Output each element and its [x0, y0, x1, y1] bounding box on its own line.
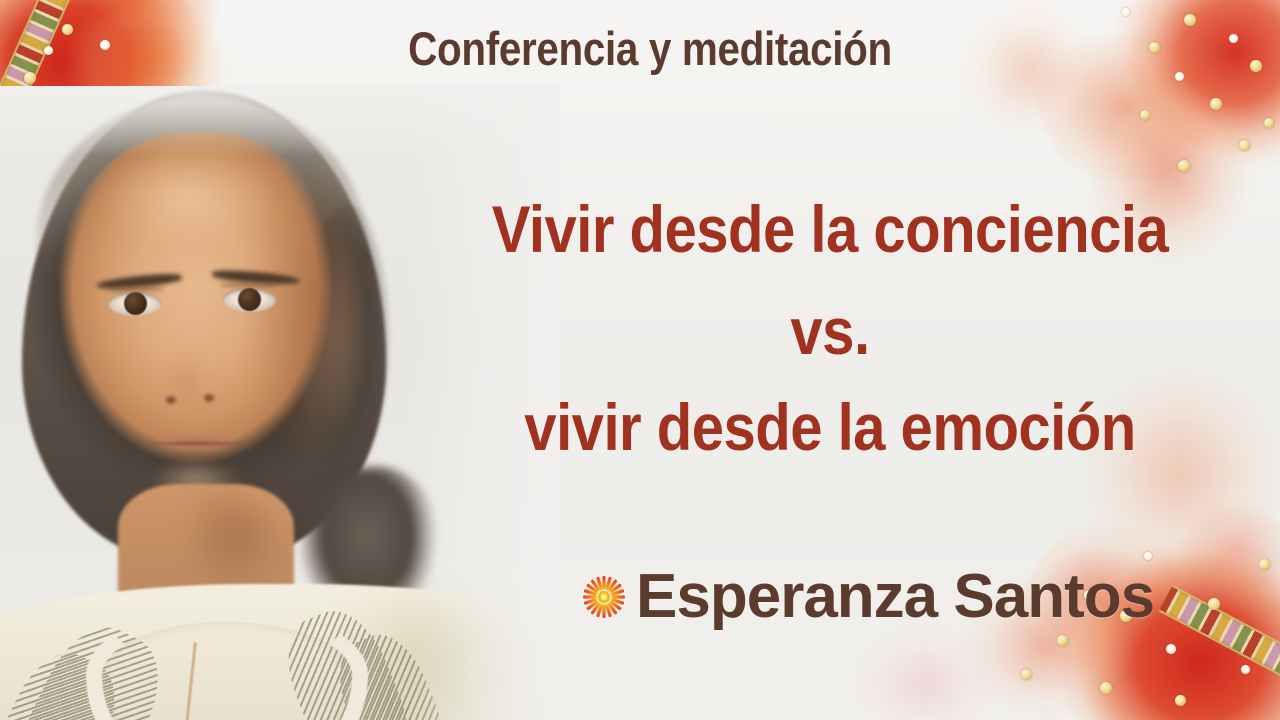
gold-dot-icon [1210, 98, 1222, 110]
white-dot-icon [1241, 665, 1250, 674]
white-dot-icon [1175, 72, 1184, 81]
gold-dot-icon [1140, 110, 1150, 120]
gold-dot-icon [24, 72, 36, 84]
headline-line-3: vivir desde la emoción [443, 394, 1217, 460]
headline-line-1: Vivir desde la conciencia [443, 196, 1217, 262]
portrait-iris-right [238, 288, 261, 311]
gold-dot-icon [1264, 118, 1274, 128]
speaker-credit: Esperanza Santos [580, 566, 1154, 628]
white-dot-icon [44, 46, 53, 55]
gold-dot-icon [1100, 682, 1112, 694]
presentation-slide: Conferencia y meditación Vivir desde la … [0, 0, 1280, 720]
gold-dot-icon [62, 24, 73, 35]
portrait-forehead-highlight [98, 150, 298, 270]
watercolor-splash-top-right-icon [1030, 0, 1280, 220]
portrait-lip-line [150, 442, 242, 445]
portrait-top-edge-fade [0, 86, 560, 156]
portrait-iris-left [124, 292, 147, 315]
gold-dot-icon [1021, 669, 1032, 680]
gold-dot-icon [1208, 598, 1220, 610]
sunburst-icon [580, 573, 628, 621]
gold-dot-icon [1057, 635, 1068, 646]
gold-dot-icon [1175, 695, 1186, 706]
portrait-nostril-right [204, 394, 214, 402]
white-dot-icon [1122, 8, 1130, 16]
speaker-name-label: Esperanza Santos [636, 566, 1154, 628]
portrait-nostril-left [166, 396, 176, 404]
headline-line-2: vs. [443, 298, 1217, 364]
gold-dot-icon [1149, 42, 1160, 53]
portrait-eyelid-left [106, 286, 164, 292]
gold-dot-icon [1239, 140, 1250, 151]
slide-headline: Vivir desde la conciencia vs. vivir desd… [390, 196, 1270, 460]
watercolor-splash-bottom-center-icon [820, 620, 1030, 720]
portrait-eyelid-right [220, 282, 278, 288]
gold-dot-icon [1178, 160, 1190, 172]
gold-dot-icon [1184, 14, 1196, 26]
white-dot-icon [1166, 644, 1176, 654]
jeweled-ribbon-bottom-right-icon [1161, 585, 1280, 720]
white-dot-icon [1144, 552, 1152, 560]
white-dot-icon [100, 40, 110, 50]
slide-kicker-text: Conferencia y meditación [315, 24, 986, 73]
white-dot-icon [1229, 34, 1238, 43]
gold-dot-icon [1259, 559, 1270, 570]
gold-dot-icon [1250, 60, 1262, 72]
